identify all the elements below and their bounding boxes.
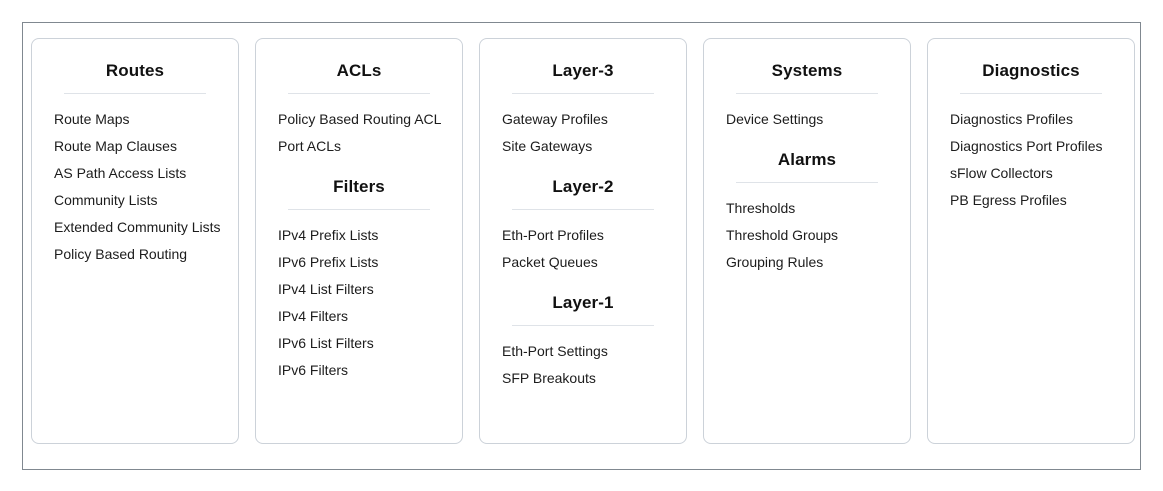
section-heading: Layer-1 bbox=[480, 271, 686, 313]
nav-link-item[interactable]: Extended Community Lists bbox=[32, 219, 238, 236]
navigation-panel-frame: RoutesRoute MapsRoute Map ClausesAS Path… bbox=[22, 22, 1141, 470]
nav-link-item[interactable]: Diagnostics Port Profiles bbox=[928, 138, 1134, 155]
navigation-card-row: RoutesRoute MapsRoute Map ClausesAS Path… bbox=[31, 38, 1135, 444]
nav-link-item[interactable]: Eth-Port Profiles bbox=[480, 227, 686, 244]
nav-card-diagnostics: DiagnosticsDiagnostics ProfilesDiagnosti… bbox=[927, 38, 1135, 444]
nav-link-item[interactable]: sFlow Collectors bbox=[928, 165, 1134, 182]
section-heading: Systems bbox=[704, 39, 910, 81]
nav-link-item[interactable]: Threshold Groups bbox=[704, 227, 910, 244]
nav-link-item[interactable]: Grouping Rules bbox=[704, 254, 910, 271]
nav-link-item[interactable]: IPv6 List Filters bbox=[256, 335, 462, 352]
nav-link-item[interactable]: IPv4 List Filters bbox=[256, 281, 462, 298]
section-item-list: Device Settings bbox=[704, 94, 910, 128]
nav-card-acls: ACLsPolicy Based Routing ACLPort ACLsFil… bbox=[255, 38, 463, 444]
nav-link-item[interactable]: PB Egress Profiles bbox=[928, 192, 1134, 209]
section-heading: Alarms bbox=[704, 128, 910, 170]
nav-section: FiltersIPv4 Prefix ListsIPv6 Prefix List… bbox=[256, 155, 462, 379]
section-heading: Filters bbox=[256, 155, 462, 197]
nav-section: RoutesRoute MapsRoute Map ClausesAS Path… bbox=[32, 39, 238, 263]
nav-section: DiagnosticsDiagnostics ProfilesDiagnosti… bbox=[928, 39, 1134, 209]
nav-link-item[interactable]: Policy Based Routing bbox=[32, 246, 238, 263]
nav-link-item[interactable]: Community Lists bbox=[32, 192, 238, 209]
section-heading: ACLs bbox=[256, 39, 462, 81]
section-item-list: Diagnostics ProfilesDiagnostics Port Pro… bbox=[928, 94, 1134, 209]
section-heading: Layer-2 bbox=[480, 155, 686, 197]
section-item-list: ThresholdsThreshold GroupsGrouping Rules bbox=[704, 183, 910, 271]
section-heading: Routes bbox=[32, 39, 238, 81]
nav-link-item[interactable]: AS Path Access Lists bbox=[32, 165, 238, 182]
nav-link-item[interactable]: Diagnostics Profiles bbox=[928, 111, 1134, 128]
nav-link-item[interactable]: Route Maps bbox=[32, 111, 238, 128]
nav-section: SystemsDevice Settings bbox=[704, 39, 910, 128]
nav-link-item[interactable]: IPv6 Filters bbox=[256, 362, 462, 379]
section-item-list: Gateway ProfilesSite Gateways bbox=[480, 94, 686, 155]
nav-link-item[interactable]: IPv6 Prefix Lists bbox=[256, 254, 462, 271]
nav-section: Layer-1Eth-Port SettingsSFP Breakouts bbox=[480, 271, 686, 387]
nav-link-item[interactable]: Port ACLs bbox=[256, 138, 462, 155]
nav-link-item[interactable]: Policy Based Routing ACL bbox=[256, 111, 462, 128]
nav-link-item[interactable]: Site Gateways bbox=[480, 138, 686, 155]
nav-link-item[interactable]: IPv4 Prefix Lists bbox=[256, 227, 462, 244]
nav-card-layers: Layer-3Gateway ProfilesSite GatewaysLaye… bbox=[479, 38, 687, 444]
section-item-list: Policy Based Routing ACLPort ACLs bbox=[256, 94, 462, 155]
nav-section: Layer-3Gateway ProfilesSite Gateways bbox=[480, 39, 686, 155]
nav-link-item[interactable]: Gateway Profiles bbox=[480, 111, 686, 128]
nav-link-item[interactable]: IPv4 Filters bbox=[256, 308, 462, 325]
section-item-list: IPv4 Prefix ListsIPv6 Prefix ListsIPv4 L… bbox=[256, 210, 462, 379]
nav-link-item[interactable]: SFP Breakouts bbox=[480, 370, 686, 387]
nav-section: Layer-2Eth-Port ProfilesPacket Queues bbox=[480, 155, 686, 271]
section-heading: Diagnostics bbox=[928, 39, 1134, 81]
nav-link-item[interactable]: Thresholds bbox=[704, 200, 910, 217]
nav-link-item[interactable]: Packet Queues bbox=[480, 254, 686, 271]
nav-section: AlarmsThresholdsThreshold GroupsGrouping… bbox=[704, 128, 910, 271]
nav-link-item[interactable]: Eth-Port Settings bbox=[480, 343, 686, 360]
nav-card-routes: RoutesRoute MapsRoute Map ClausesAS Path… bbox=[31, 38, 239, 444]
section-item-list: Eth-Port SettingsSFP Breakouts bbox=[480, 326, 686, 387]
section-item-list: Eth-Port ProfilesPacket Queues bbox=[480, 210, 686, 271]
section-heading: Layer-3 bbox=[480, 39, 686, 81]
section-item-list: Route MapsRoute Map ClausesAS Path Acces… bbox=[32, 94, 238, 263]
nav-card-systems: SystemsDevice SettingsAlarmsThresholdsTh… bbox=[703, 38, 911, 444]
nav-section: ACLsPolicy Based Routing ACLPort ACLs bbox=[256, 39, 462, 155]
nav-link-item[interactable]: Route Map Clauses bbox=[32, 138, 238, 155]
nav-link-item[interactable]: Device Settings bbox=[704, 111, 910, 128]
